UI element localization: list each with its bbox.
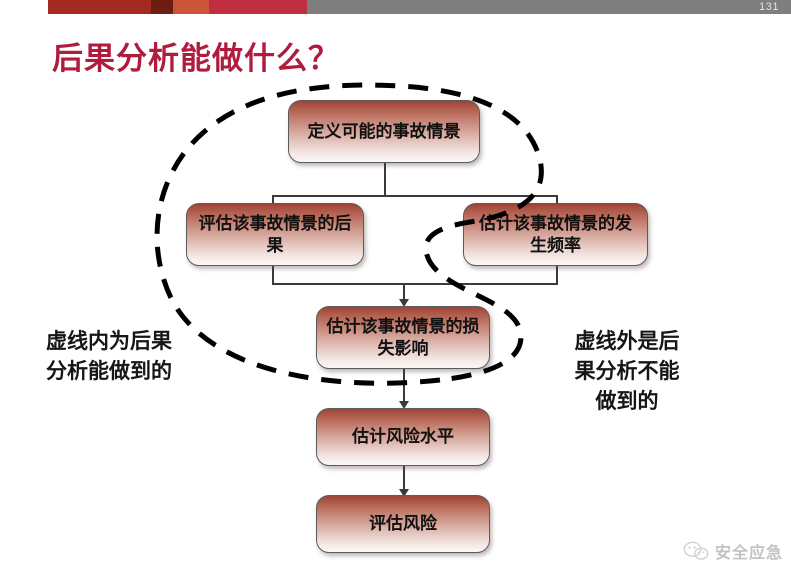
topbar-segment-orange-red <box>173 0 209 14</box>
flow-node-label: 估计该事故情景的损失影响 <box>325 316 481 360</box>
flow-node-label: 估计该事故情景的发生频率 <box>472 213 639 257</box>
connector-merge-horizontal <box>272 283 558 285</box>
page-number: 131 <box>759 0 779 14</box>
flow-node-label: 定义可能的事故情景 <box>308 121 461 143</box>
page-title: 后果分析能做什么？ <box>52 33 340 78</box>
watermark: 安全应急 <box>683 539 783 563</box>
flow-node-estimate-loss[interactable]: 估计该事故情景的损失影响 <box>316 306 490 369</box>
flow-node-estimate-frequency[interactable]: 估计该事故情景的发生频率 <box>463 203 648 266</box>
annotation-left: 虚线内为后果 分析能做到的 <box>18 327 200 387</box>
topbar-segment-deep-maroon <box>151 0 173 14</box>
watermark-text: 安全应急 <box>715 539 783 563</box>
topbar-segment-white <box>0 0 48 14</box>
flow-node-evaluate-risk[interactable]: 评估风险 <box>316 495 490 553</box>
flow-node-label: 评估该事故情景的后果 <box>195 213 355 257</box>
annotation-right: 虚线外是后 果分析不能 做到的 <box>543 327 711 416</box>
connector-assess-consequence-down <box>272 266 274 284</box>
wechat-icon <box>683 540 709 562</box>
flow-node-label: 估计风险水平 <box>352 426 454 448</box>
topbar-segment-gray <box>307 0 791 14</box>
slide-canvas: 131 后果分析能做什么？ 定义可能的事故情景 评估该事故情景的后果 估计该事故… <box>0 0 791 566</box>
connector-split-horizontal <box>273 195 557 197</box>
connector-estimate-frequency-down <box>556 266 558 284</box>
flow-node-estimate-risk[interactable]: 估计风险水平 <box>316 408 490 466</box>
flow-node-define-scenarios[interactable]: 定义可能的事故情景 <box>288 100 480 163</box>
flow-node-assess-consequence[interactable]: 评估该事故情景的后果 <box>186 203 364 266</box>
flow-node-label: 评估风险 <box>369 513 437 535</box>
topbar-segment-dark-red <box>48 0 151 14</box>
topbar-segment-crimson <box>209 0 307 14</box>
top-decorative-bar: 131 <box>0 0 791 14</box>
connector-define-down <box>384 163 386 196</box>
